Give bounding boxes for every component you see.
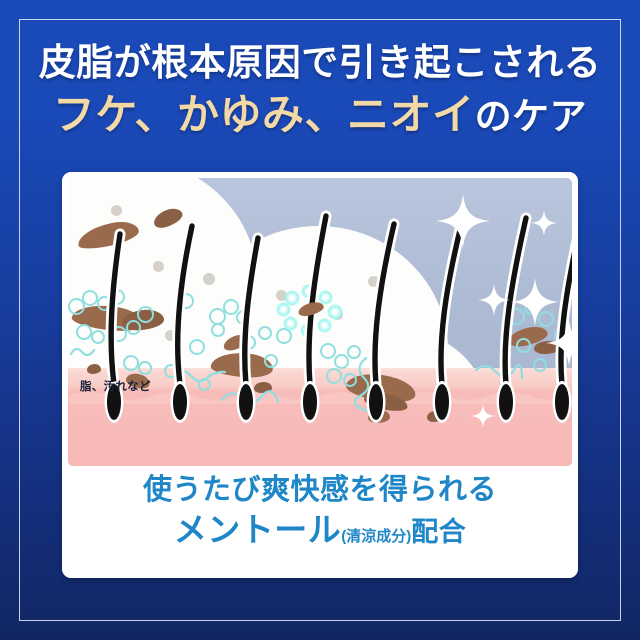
sebum-callout-label: 脂、汚れなど xyxy=(80,378,151,394)
sparkle-icon xyxy=(478,284,510,316)
caption-block: 使うたび爽快感を得られる メントール(清涼成分)配合 xyxy=(62,474,578,549)
caption-ingredient-name: メントール xyxy=(174,511,342,548)
sparkle-icon xyxy=(511,278,559,326)
caption-line-1: 使うたび爽快感を得られる xyxy=(62,474,578,507)
headline-line-2-gold: フケ、かゆみ、ニオイ xyxy=(53,91,475,138)
sparkle-icon xyxy=(531,210,557,236)
caption-ingredient-note: (清涼成分) xyxy=(341,528,411,545)
caption-ingredient-tail: 配合 xyxy=(411,517,466,547)
sparkle-icon xyxy=(546,320,572,366)
caption-line-2: メントール(清涼成分)配合 xyxy=(62,512,578,548)
sparkle-icon xyxy=(436,194,490,248)
hair-strands-group xyxy=(68,178,572,466)
headline-line-1: 皮脂が根本原因で引き起こされる xyxy=(0,44,640,81)
sparkle-icon xyxy=(471,404,495,428)
headline-line-2-white: のケア xyxy=(475,96,588,137)
content-card: 脂、汚れなど 使うたび爽快感を得られる メントール(清涼成分)配合 xyxy=(62,172,578,578)
scalp-illustration: 脂、汚れなど xyxy=(68,178,572,466)
headline-block: 皮脂が根本原因で引き起こされる フケ、かゆみ、ニオイのケア xyxy=(0,44,640,136)
headline-line-2: フケ、かゆみ、ニオイのケア xyxy=(0,94,640,136)
